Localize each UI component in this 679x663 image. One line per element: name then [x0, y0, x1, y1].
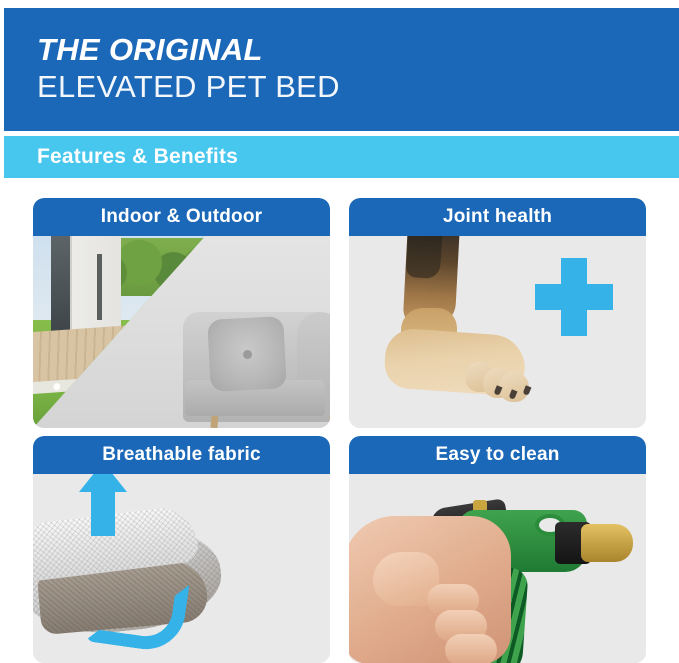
feature-card-image [349, 474, 646, 663]
feature-card-easy-to-clean: Easy to clean [349, 436, 646, 663]
airflow-arrow-head-icon [79, 474, 127, 492]
infographic-page: THE ORIGINAL ELEVATED PET BED Features &… [0, 0, 679, 663]
feature-card-indoor-outdoor: Indoor & Outdoor [33, 198, 330, 428]
features-benefits-label: Features & Benefits [37, 145, 238, 169]
feature-card-image [33, 236, 330, 428]
feature-card-title: Joint health [443, 206, 552, 228]
features-benefits-bar: Features & Benefits [4, 136, 679, 178]
feature-card-header: Easy to clean [349, 436, 646, 474]
house-wall [51, 236, 121, 336]
mesh-fabric-photo-icon [33, 474, 330, 663]
brass-nozzle-tip [581, 524, 633, 562]
medical-cross-icon [561, 258, 587, 336]
door-icon [51, 236, 72, 332]
hero-banner: THE ORIGINAL ELEVATED PET BED [4, 8, 679, 131]
finger [445, 634, 497, 663]
sofa-icon [183, 312, 330, 422]
feature-card-breathable-fabric: Breathable fabric [33, 436, 330, 663]
feature-card-header: Indoor & Outdoor [33, 198, 330, 236]
feature-card-image [349, 236, 646, 428]
dog-leg-shading [405, 236, 442, 279]
feature-card-image [33, 474, 330, 663]
post [97, 254, 102, 320]
hero-title-secondary: ELEVATED PET BED [37, 68, 679, 106]
airflow-curve-icon [85, 572, 190, 655]
feature-card-header: Joint health [349, 198, 646, 236]
hero-title-primary: THE ORIGINAL [37, 32, 679, 68]
feature-card-header: Breathable fabric [33, 436, 330, 474]
feature-card-title: Indoor & Outdoor [101, 206, 263, 228]
feature-card-title: Breathable fabric [102, 444, 261, 466]
feature-card-grid: Indoor & Outdoor [33, 198, 646, 663]
indoor-outdoor-photo-icon [33, 236, 330, 428]
hose-nozzle-photo-icon [349, 474, 646, 663]
sofa-leg [210, 416, 218, 428]
sofa-leg [328, 416, 330, 428]
feature-card-title: Easy to clean [435, 444, 559, 466]
feature-card-joint-health: Joint health [349, 198, 646, 428]
dog-paw-photo-icon [349, 236, 646, 428]
cushion-icon [207, 316, 287, 392]
